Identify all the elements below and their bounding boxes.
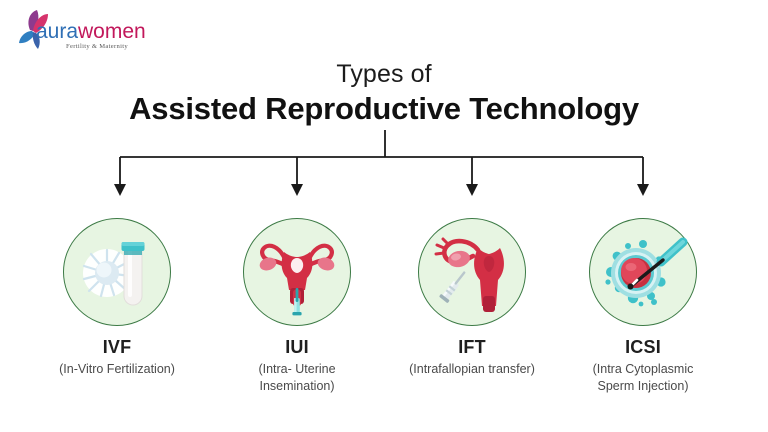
item-abbr: IUI: [227, 337, 367, 358]
item-full-name: (Intra Cytoplasmic Sperm Injection): [573, 361, 713, 394]
item-abbr: IVF: [47, 337, 187, 358]
art-item-ivf[interactable]: IVF (In-Vitro Fertilization): [47, 218, 187, 378]
test-tube-graphic: [122, 242, 145, 305]
art-item-icsi[interactable]: ICSI (Intra Cytoplasmic Sperm Injection): [573, 218, 713, 394]
arrowhead-2: [291, 184, 303, 196]
syringe-graphic: [439, 268, 470, 303]
arrowhead-3: [466, 184, 478, 196]
egg-cell-graphic: [605, 240, 665, 306]
egg-micro-injection-icon: [597, 226, 689, 318]
item-full-name: (Intrafallopian transfer): [402, 361, 542, 378]
arrowhead-4: [637, 184, 649, 196]
icon-circle-iui: [243, 218, 351, 326]
icon-circle-ift: [418, 218, 526, 326]
infographic-canvas: aura women Fertility & Maternity Types o…: [0, 0, 768, 432]
art-item-iui[interactable]: IUI (Intra- Uterine Insemination): [227, 218, 367, 394]
arrowhead-1: [114, 184, 126, 196]
fallopian-tube-syringe-icon: [426, 226, 518, 318]
test-tube-ovum-icon: [71, 226, 163, 318]
item-full-name: (Intra- Uterine Insemination): [227, 361, 367, 394]
art-item-ift[interactable]: IFT (Intrafallopian transfer): [402, 218, 542, 378]
item-abbr: ICSI: [573, 337, 713, 358]
icon-circle-ivf: [63, 218, 171, 326]
icon-circle-icsi: [589, 218, 697, 326]
item-abbr: IFT: [402, 337, 542, 358]
item-full-name: (In-Vitro Fertilization): [47, 361, 187, 378]
uterus-syringe-icon: [251, 226, 343, 318]
